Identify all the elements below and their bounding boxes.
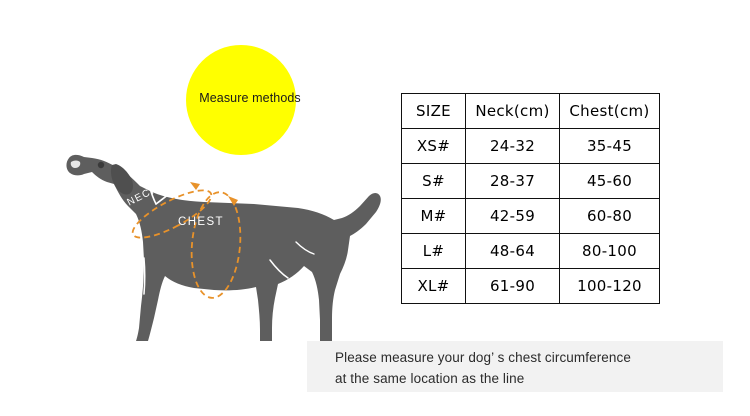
cell-chest: 80-100 [560,234,660,269]
cell-size: XS# [402,129,466,164]
cell-neck: 42-59 [466,199,560,234]
table-header-neck: Neck(cm) [466,94,560,129]
dog-ear [111,164,133,195]
cell-size: S# [402,164,466,199]
size-chart-infographic: Measure methods NECK CHEST SIZE Neck(cm) [0,0,750,416]
cell-size: L# [402,234,466,269]
dog-eye [98,162,104,168]
table-header-size: SIZE [402,94,466,129]
table-row: L# 48-64 80-100 [402,234,660,269]
cell-chest: 60-80 [560,199,660,234]
cell-neck: 28-37 [466,164,560,199]
table-row: XS# 24-32 35-45 [402,129,660,164]
note-line-2: at the same location as the line [335,371,524,386]
cell-size: XL# [402,269,466,304]
cell-chest: 45-60 [560,164,660,199]
chest-measure-label: CHEST [178,216,224,228]
cell-chest: 100-120 [560,269,660,304]
cell-size: M# [402,199,466,234]
note-line-1: Please measure your dog’ s chest circumf… [335,350,631,365]
cell-neck: 61-90 [466,269,560,304]
table-row: M# 42-59 60-80 [402,199,660,234]
neck-arrow [190,182,200,190]
table-header-row: SIZE Neck(cm) Chest(cm) [402,94,660,129]
dog-leg-line-front [144,258,145,294]
cell-chest: 35-45 [560,129,660,164]
cell-neck: 48-64 [466,234,560,269]
table-row: XL# 61-90 100-120 [402,269,660,304]
table-row: S# 28-37 45-60 [402,164,660,199]
measure-methods-label: Measure methods [180,91,320,105]
size-table: SIZE Neck(cm) Chest(cm) XS# 24-32 35-45 … [401,93,660,304]
cell-neck: 24-32 [466,129,560,164]
table-header-chest: Chest(cm) [560,94,660,129]
dog-illustration [44,110,384,350]
measurement-note-band: Please measure your dog’ s chest circumf… [307,341,723,392]
